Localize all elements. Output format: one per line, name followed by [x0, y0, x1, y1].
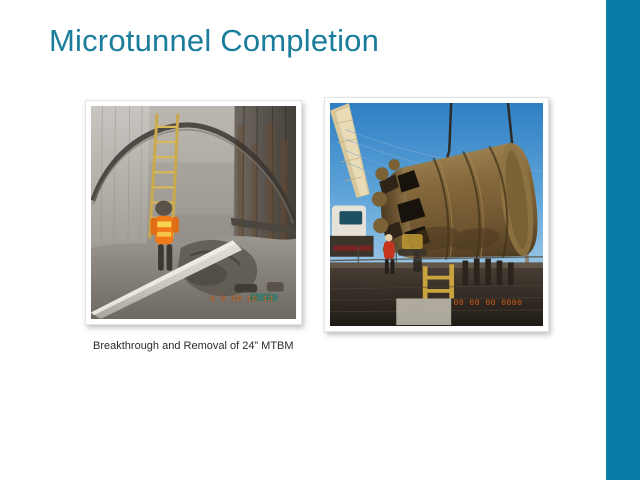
slide: Microtunnel Completion	[0, 0, 640, 480]
shaft-breakthrough-illustration	[91, 106, 296, 319]
shaft-breakthrough-photo: 4 9 10 10 13	[85, 100, 302, 325]
shaft-breakthrough-image: 4 9 10 10 13	[91, 106, 296, 319]
mtbm-removal-photo: 00 00 00 0000	[324, 97, 549, 332]
page-title: Microtunnel Completion	[49, 21, 379, 61]
photo-timestamp: 00 00 00 0000	[454, 299, 523, 308]
photo-timestamp: 4 9 10 10 13	[210, 295, 274, 304]
mtbm-removal-image: 00 00 00 0000	[330, 103, 543, 326]
mtbm-removal-illustration	[330, 103, 543, 326]
accent-bar	[606, 0, 640, 480]
photo-caption: Breakthrough and Removal of 24” MTBM	[93, 339, 294, 353]
